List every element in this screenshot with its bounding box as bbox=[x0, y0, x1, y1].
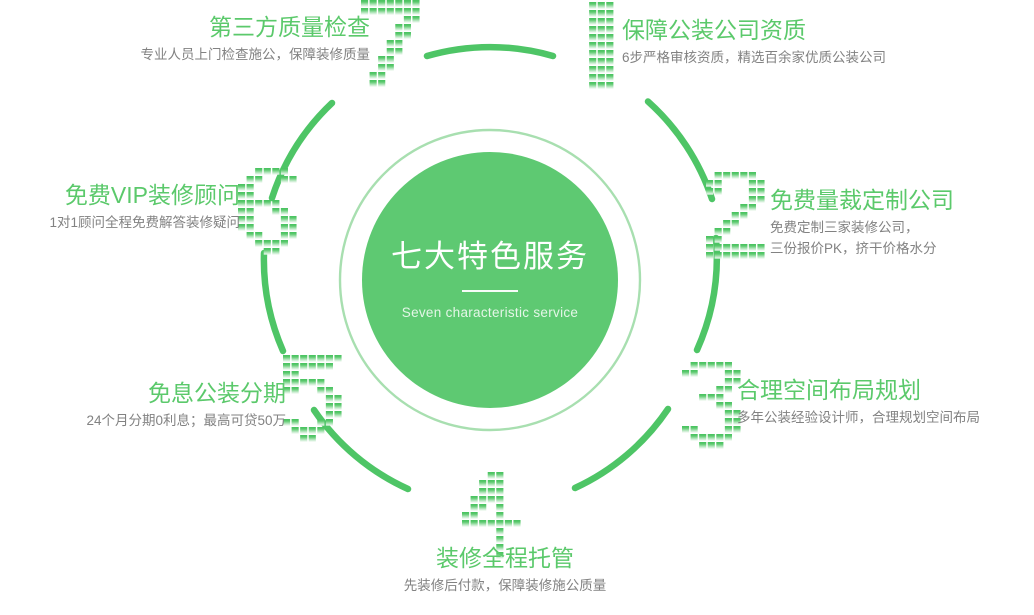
center-title: 七大特色服务 bbox=[391, 240, 589, 274]
service-item-2-desc-line-2: 三份报价PK，挤干价格水分 bbox=[770, 239, 954, 260]
center-divider bbox=[462, 290, 518, 292]
center-subtitle: Seven characteristic service bbox=[402, 305, 578, 320]
arc-segment-1-2 bbox=[648, 102, 712, 200]
numeral-5 bbox=[283, 355, 343, 443]
service-item-4-title: 装修全程托管 bbox=[340, 545, 670, 571]
numeral-2 bbox=[706, 172, 766, 260]
arc-segment-7-1 bbox=[427, 47, 553, 56]
service-item-5-title: 免息公装分期 bbox=[0, 380, 286, 406]
infographic-root: 七大特色服务 Seven characteristic service 保障公装… bbox=[0, 0, 1034, 615]
service-item-6-desc: 1对1顾问全程免费解答装修疑问 bbox=[0, 213, 240, 234]
numeral-3 bbox=[682, 362, 742, 450]
numeral-6 bbox=[238, 168, 298, 256]
service-item-2-desc-line-1: 免费定制三家装修公司， bbox=[770, 218, 954, 239]
service-item-3: 合理空间布局规划 多年公装经验设计师，合理规划空间布局 bbox=[737, 377, 980, 429]
service-item-3-title: 合理空间布局规划 bbox=[737, 377, 980, 403]
center-circle: 七大特色服务 Seven characteristic service bbox=[362, 152, 618, 408]
service-item-2-title: 免费量裁定制公司 bbox=[770, 187, 954, 213]
service-item-7-desc: 专业人员上门检查施公，保障装修质量 bbox=[60, 45, 370, 66]
service-item-4: 装修全程托管 先装修后付款，保障装修施公质量 bbox=[340, 545, 670, 597]
service-item-2: 免费量裁定制公司 免费定制三家装修公司， 三份报价PK，挤干价格水分 bbox=[770, 187, 954, 260]
service-item-1-title: 保障公装公司资质 bbox=[622, 17, 886, 43]
numeral-7 bbox=[361, 0, 421, 88]
service-item-3-desc: 多年公装经验设计师，合理规划空间布局 bbox=[737, 408, 980, 429]
arc-segment-5-6 bbox=[264, 253, 283, 351]
service-item-7-title: 第三方质量检查 bbox=[60, 14, 370, 40]
service-item-4-desc: 先装修后付款，保障装修施公质量 bbox=[340, 576, 670, 597]
service-item-1-desc: 6步严格审核资质，精选百余家优质公装公司 bbox=[622, 48, 886, 69]
service-item-1: 保障公装公司资质 6步严格审核资质，精选百余家优质公装公司 bbox=[622, 17, 886, 69]
service-item-2-desc: 免费定制三家装修公司， 三份报价PK，挤干价格水分 bbox=[770, 218, 954, 260]
service-item-6-title: 免费VIP装修顾问 bbox=[0, 182, 240, 208]
service-item-5-desc: 24个月分期0利息；最高可贷50万 bbox=[0, 411, 286, 432]
service-item-6: 免费VIP装修顾问 1对1顾问全程免费解答装修疑问 bbox=[0, 182, 240, 234]
service-item-5: 免息公装分期 24个月分期0利息；最高可贷50万 bbox=[0, 380, 286, 432]
service-item-7: 第三方质量检查 专业人员上门检查施公，保障装修质量 bbox=[60, 14, 370, 66]
arc-segment-3-4 bbox=[575, 409, 668, 488]
